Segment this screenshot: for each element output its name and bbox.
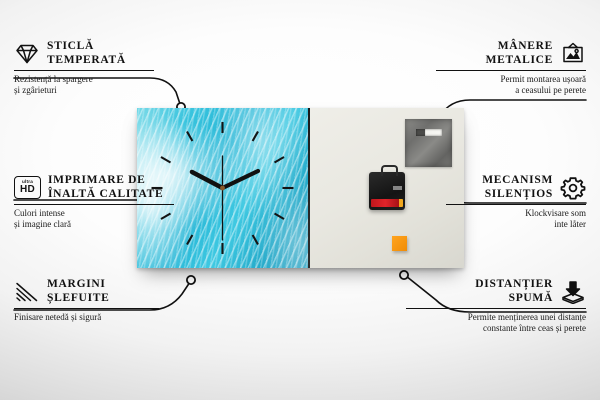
feature-title: IMPRIMARE DE ÎNALTĂ CALITATE — [48, 174, 163, 201]
feature-desc: Permite menținerea unei distanțe constan… — [406, 312, 586, 334]
clock-back-panel — [310, 108, 464, 268]
feature-desc: Rezistență la spargere și zgârieturi — [14, 74, 154, 96]
feature-desc: Klockvisare som inte låter — [446, 208, 586, 230]
hanger-slot — [416, 129, 442, 136]
feature-title: MECANISM SILENȚIOS — [482, 174, 553, 201]
arrow-down-pad-icon — [560, 280, 586, 304]
infographic-canvas: STICLĂ TEMPERATĂ Rezistență la spargere … — [0, 0, 600, 400]
divider — [14, 70, 154, 71]
mechanism-label — [393, 186, 402, 190]
clock-minute-hand — [223, 171, 259, 188]
product-image — [137, 108, 464, 268]
feature-mecanism-silentios: MECANISM SILENȚIOS Klockvisare som inte … — [446, 174, 586, 230]
feature-title: STICLĂ TEMPERATĂ — [47, 40, 126, 67]
feature-manere-metalice: MÂNERE METALICE Permit montarea ușoară a… — [436, 40, 586, 96]
feature-sticla-temperata: STICLĂ TEMPERATĂ Rezistență la spargere … — [14, 40, 154, 96]
ultra-hd-badge-icon: ultra HD — [14, 176, 41, 199]
diamond-icon — [14, 43, 40, 65]
feature-title: MÂNERE METALICE — [486, 40, 553, 67]
feature-desc: Finisare netedă și sigură — [14, 312, 159, 323]
feature-margini-slefuite: MARGINI ȘLEFUITE Finisare netedă și sigu… — [14, 278, 159, 323]
feature-desc: Culori intense și imagine clară — [14, 208, 174, 230]
metal-hanger-plate — [405, 119, 452, 167]
feature-distantier-spuma: DISTANȚIER SPUMĂ Permite menținerea unei… — [406, 278, 586, 334]
hanging-picture-icon — [560, 42, 586, 65]
divider — [436, 70, 586, 71]
feature-title: MARGINI ȘLEFUITE — [47, 278, 109, 305]
divider — [14, 204, 174, 205]
divider — [14, 308, 159, 309]
feature-title: DISTANȚIER SPUMĂ — [475, 278, 553, 305]
feature-imprimare-hd: ultra HD IMPRIMARE DE ÎNALTĂ CALITATE Cu… — [14, 174, 174, 230]
mechanism-hook — [381, 165, 398, 176]
battery — [371, 199, 403, 207]
foam-spacer — [392, 236, 407, 251]
feature-desc: Permit montarea ușoară a ceasului pe per… — [436, 74, 586, 96]
gear-icon — [560, 176, 586, 200]
clock-center-cap — [220, 186, 225, 191]
badge-hd-text: HD — [20, 185, 35, 195]
clock-hour-hand — [192, 172, 223, 188]
clock-mechanism — [369, 172, 405, 210]
polished-edge-icon — [14, 281, 40, 303]
divider — [446, 204, 586, 205]
divider — [406, 308, 586, 309]
marker-margini-slefuite — [187, 276, 195, 284]
